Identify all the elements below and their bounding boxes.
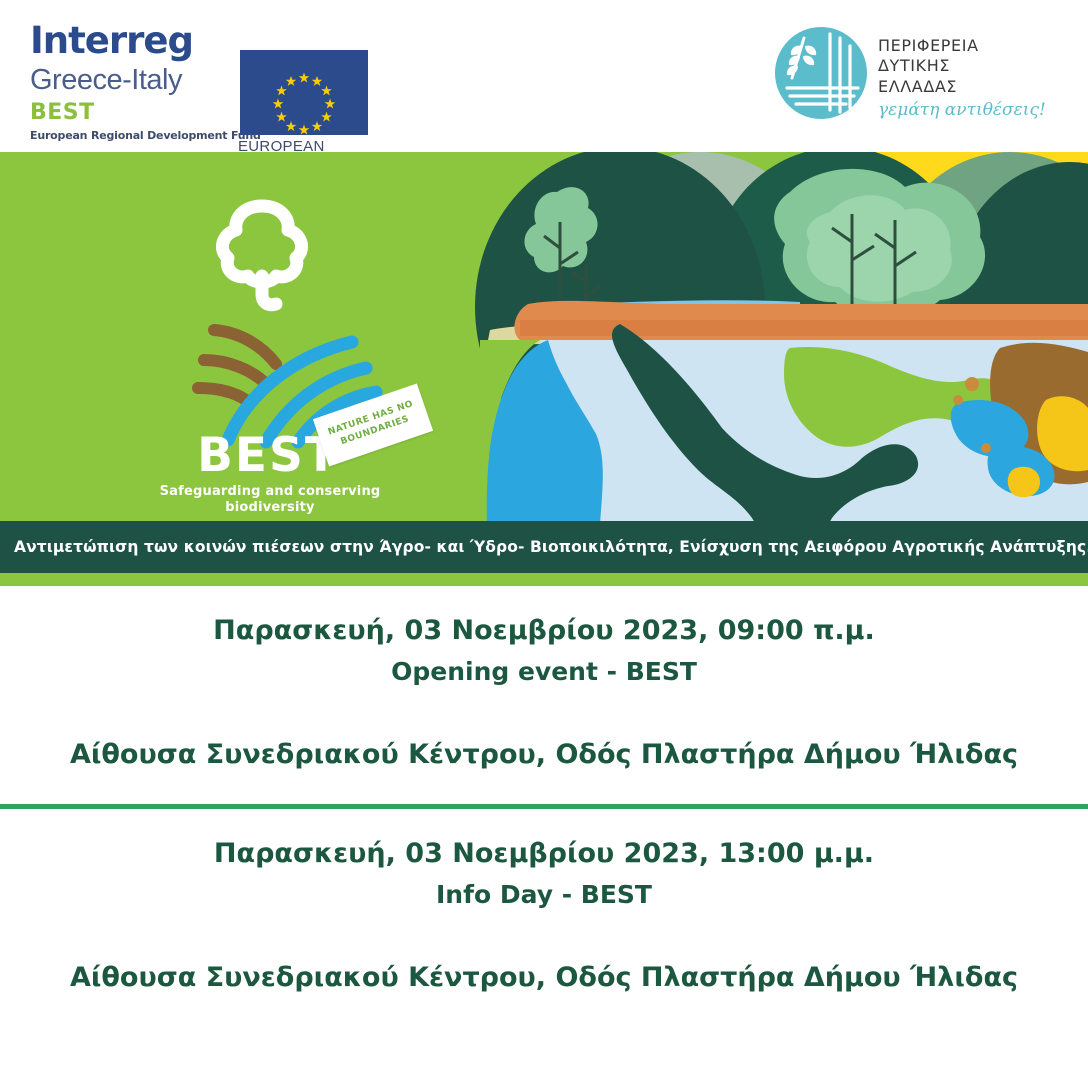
project-banner: BEST Safeguarding and conserving biodive… [0, 152, 1088, 586]
event-datetime: Παρασκευή, 03 Νοεμβρίου 2023, 13:00 μ.μ. [0, 835, 1088, 873]
banner-caption-band: Αντιμετώπιση των κοινών πιέσεων στην Άγρ… [0, 521, 1088, 573]
event-title: Opening event - BEST [0, 654, 1088, 690]
interreg-project-name: BEST [30, 102, 95, 124]
eu-flag-icon [240, 50, 368, 135]
region-tagline: γεμάτη αντιθέσεις! [878, 102, 1046, 119]
event-venue: Αίθουσα Συνεδριακού Κέντρου, Οδός Πλαστή… [0, 736, 1088, 774]
event-block-info-day: Παρασκευή, 03 Νοεμβρίου 2023, 13:00 μ.μ.… [0, 835, 1088, 997]
event-block-opening: Παρασκευή, 03 Νοεμβρίου 2023, 09:00 π.μ.… [0, 612, 1088, 774]
header-logos: Interreg Greece-Italy BEST European Regi… [0, 0, 1088, 152]
interreg-area-name: Greece-Italy [30, 66, 182, 95]
region-name-block: ΠΕΡΙΦΕΡΕΙΑ ΔΥΤΙΚΗΣ ΕΛΛΑΔΑΣ γεμάτη αντιθέ… [878, 36, 1046, 119]
region-wheat-circle-icon [774, 26, 868, 120]
best-tagline-line-2: biodiversity [145, 500, 395, 516]
interreg-program-name: Interreg [30, 22, 193, 59]
best-tagline-line-1: Safeguarding and conserving [145, 484, 395, 500]
event-venue: Αίθουσα Συνεδριακού Κέντρου, Οδός Πλαστή… [0, 959, 1088, 997]
best-project-logo: BEST Safeguarding and conserving biodive… [140, 192, 460, 522]
interreg-logo: Interreg Greece-Italy BEST European Regi… [22, 22, 362, 134]
tree-outline-icon [202, 192, 322, 322]
section-divider [0, 804, 1088, 809]
region-name-line-2: ΔΥΤΙΚΗΣ [878, 56, 1046, 76]
best-tagline: Safeguarding and conserving biodiversity [145, 484, 395, 517]
region-name-line-3: ΕΛΛΑΔΑΣ [878, 77, 1046, 97]
region-name-line-1: ΠΕΡΙΦΕΡΕΙΑ [878, 36, 1046, 56]
event-title: Info Day - BEST [0, 877, 1088, 913]
banner-caption-text: Αντιμετώπιση των κοινών πιέσεων στην Άγρ… [0, 538, 1088, 556]
eu-stars-icon [240, 50, 368, 135]
events-section: Παρασκευή, 03 Νοεμβρίου 2023, 09:00 π.μ.… [0, 586, 1088, 997]
region-of-western-greece-logo: ΠΕΡΙΦΕΡΕΙΑ ΔΥΤΙΚΗΣ ΕΛΛΑΔΑΣ γεμάτη αντιθέ… [774, 26, 1074, 130]
interreg-fund-name: European Regional Development Fund [30, 130, 261, 141]
event-datetime: Παρασκευή, 03 Νοεμβρίου 2023, 09:00 π.μ. [0, 612, 1088, 650]
